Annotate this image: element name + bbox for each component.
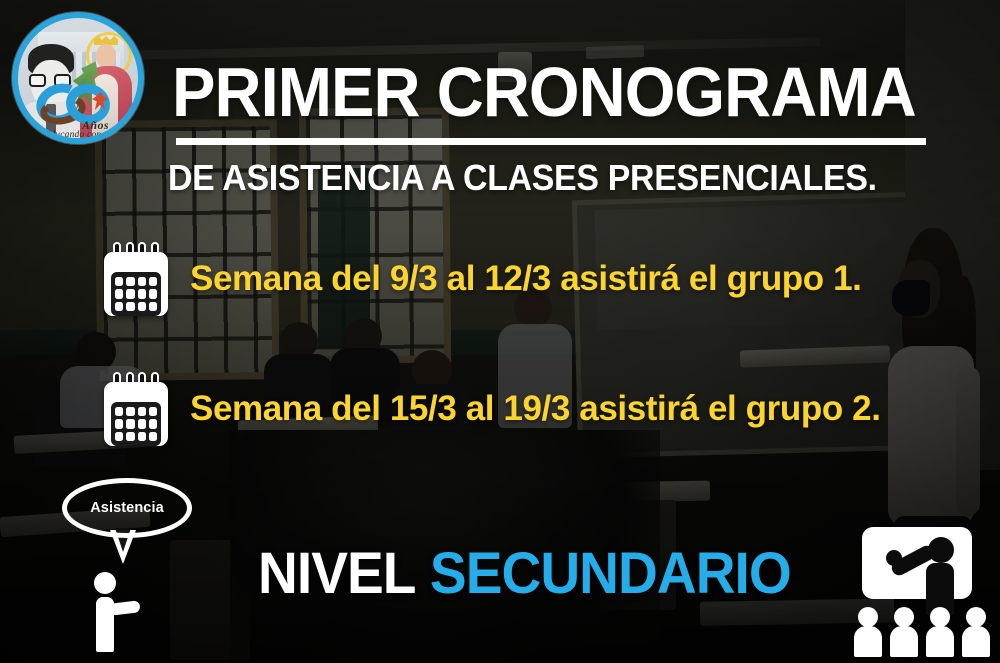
teacher-head-icon — [928, 537, 954, 563]
calendar-day-cell — [138, 302, 146, 311]
calendar-day-cell — [115, 302, 123, 311]
student-body-icon — [854, 626, 882, 657]
calendar-day-cell — [149, 277, 157, 286]
calendar-day-cell — [149, 302, 157, 311]
schedule-text-group-1: Semana del 9/3 al 12/3 asistirá el grupo… — [190, 259, 861, 299]
calendar-day-cell — [149, 289, 157, 298]
school-anniversary-logo: Años Educando con Amor — [12, 12, 144, 144]
teacher-hand-icon — [886, 550, 902, 566]
schedule-text-group-2: Semana del 15/3 al 19/3 asistirá el grup… — [190, 389, 881, 429]
attendance-schedule-poster: Años Educando con Amor PRIMER CRONOGRAMA… — [0, 0, 1000, 663]
student-icon — [888, 607, 920, 657]
raised-hand-person-icon — [88, 572, 140, 652]
student-icon — [924, 607, 956, 657]
calendar-grid — [111, 402, 161, 446]
footer-word-secundario: SECUNDARIO — [430, 541, 791, 606]
calendar-day-cell — [149, 432, 157, 441]
schedule-row: Semana del 9/3 al 12/3 asistirá el grupo… — [104, 242, 861, 316]
student-icon — [852, 607, 884, 657]
schedule-row: Semana del 15/3 al 19/3 asistirá el grup… — [104, 372, 881, 446]
calendar-day-cell — [115, 277, 123, 286]
attendance-label: Asistencia — [90, 500, 164, 516]
calendar-day-cell — [138, 407, 146, 416]
student-head-icon — [966, 607, 986, 627]
person-raised-arm — [109, 600, 140, 616]
calendar-day-cell — [115, 432, 123, 441]
page-title: PRIMER CRONOGRAMA — [172, 59, 879, 126]
calendar-day-cell — [138, 277, 146, 286]
person-head — [94, 572, 116, 594]
calendar-day-cell — [115, 407, 123, 416]
person-body — [96, 597, 114, 652]
calendar-day-cell — [115, 289, 123, 298]
students-row-icon — [852, 607, 992, 657]
calendar-day-cell — [126, 277, 134, 286]
teacher-at-board-icon — [852, 527, 992, 657]
calendar-grid — [111, 272, 161, 316]
student-head-icon — [930, 607, 950, 627]
calendar-day-cell — [138, 289, 146, 298]
calendar-day-cell — [138, 419, 146, 428]
title-divider — [176, 138, 926, 145]
calendar-body — [104, 252, 168, 316]
calendar-icon — [104, 242, 168, 316]
calendar-day-cell — [126, 302, 134, 311]
calendar-day-cell — [138, 432, 146, 441]
calendar-body — [104, 382, 168, 446]
education-level-footer: NIVEL SECUNDARIO — [258, 540, 791, 607]
logo-slogan: Educando con Amor — [32, 130, 138, 138]
student-head-icon — [894, 607, 914, 627]
calendar-day-cell — [115, 419, 123, 428]
footer-word-nivel: NIVEL — [258, 541, 416, 606]
student-icon — [960, 607, 992, 657]
calendar-day-cell — [149, 407, 157, 416]
student-head-icon — [858, 607, 878, 627]
student-body-icon — [890, 626, 918, 657]
attendance-speech-bubble: Asistencia — [62, 478, 192, 538]
calendar-day-cell — [126, 407, 134, 416]
saint-face — [96, 44, 116, 68]
logo-inner-disc: Años Educando con Amor — [18, 18, 138, 138]
speech-bubble-outline: Asistencia — [62, 478, 192, 538]
page-subtitle: DE ASISTENCIA A CLASES PRESENCIALES. — [168, 157, 911, 199]
calendar-day-cell — [126, 289, 134, 298]
calendar-day-cell — [126, 432, 134, 441]
calendar-icon — [104, 372, 168, 446]
student-body-icon — [962, 626, 990, 657]
calendar-day-cell — [126, 419, 134, 428]
student-body-icon — [926, 626, 954, 657]
calendar-day-cell — [149, 419, 157, 428]
